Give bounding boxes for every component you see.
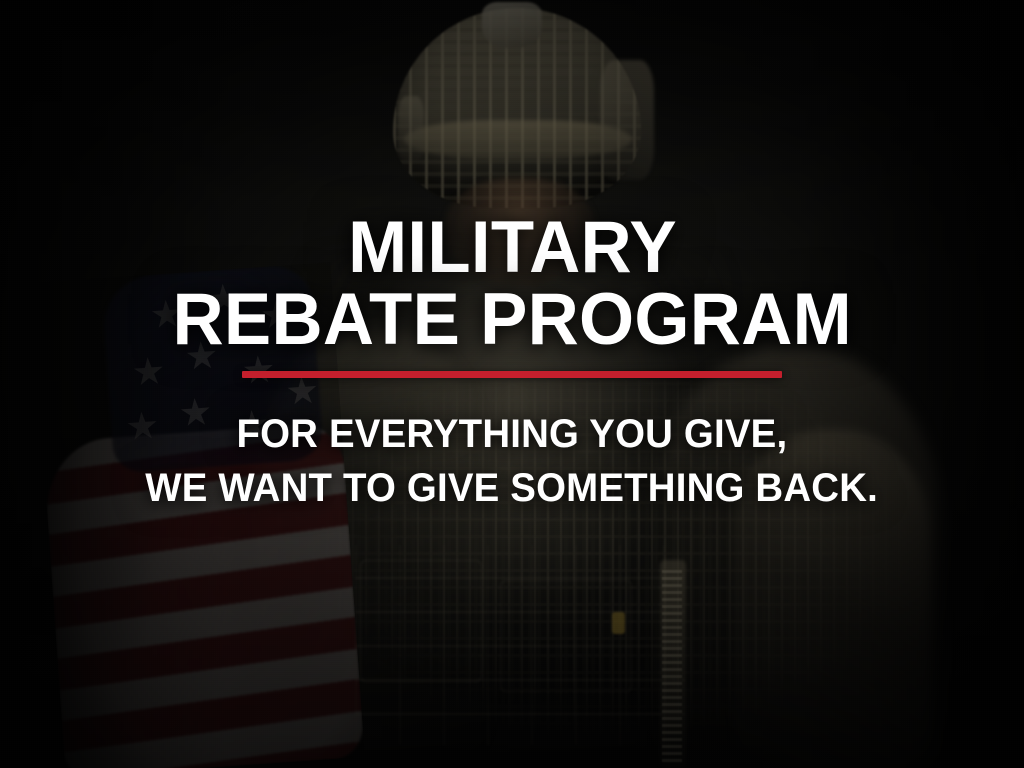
headline-line-1: MILITARY: [348, 214, 677, 282]
text-overlay: MILITARY REBATE PROGRAM FOR EVERYTHING Y…: [0, 0, 1024, 768]
subhead-line-2: WE WANT TO GIVE SOMETHING BACK.: [146, 466, 879, 511]
accent-divider-rule: [242, 371, 782, 378]
military-rebate-banner: MILITARY REBATE PROGRAM FOR EVERYTHING Y…: [0, 0, 1024, 768]
subhead-line-1: FOR EVERYTHING YOU GIVE,: [237, 412, 788, 457]
headline-line-2: REBATE PROGRAM: [172, 286, 851, 354]
